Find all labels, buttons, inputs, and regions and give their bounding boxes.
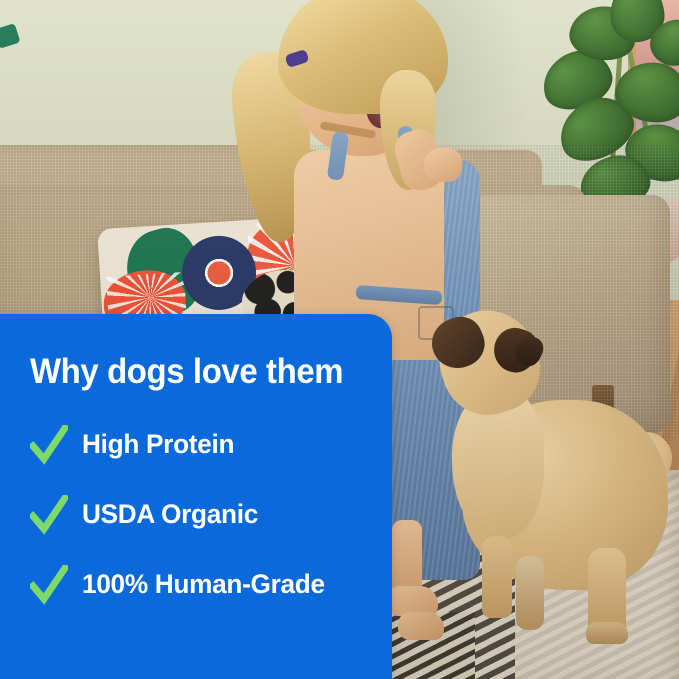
product-lifestyle-image: Why dogs love them High Protein USDA Org…: [0, 0, 679, 679]
check-icon: [30, 565, 68, 605]
benefit-label: USDA Organic: [82, 499, 258, 530]
girl-lowered-hand: [424, 148, 462, 182]
benefit-label: 100% Human-Grade: [82, 569, 325, 600]
dog-paw: [586, 622, 628, 644]
girl-foot-right: [398, 612, 444, 640]
panel-title: Why dogs love them: [30, 354, 370, 391]
benefits-panel: Why dogs love them High Protein USDA Org…: [0, 314, 392, 679]
benefits-list: High Protein USDA Organic 100% Human-Gra…: [30, 425, 392, 605]
check-icon: [30, 495, 68, 535]
list-item: High Protein: [30, 425, 392, 465]
list-item: USDA Organic: [30, 495, 392, 535]
list-item: 100% Human-Grade: [30, 565, 392, 605]
benefit-label: High Protein: [82, 429, 234, 460]
check-icon: [30, 425, 68, 465]
dog-front-leg-left: [482, 536, 512, 618]
dog-front-leg-right: [516, 556, 544, 630]
benefits-panel-content: Why dogs love them High Protein USDA Org…: [0, 314, 392, 679]
